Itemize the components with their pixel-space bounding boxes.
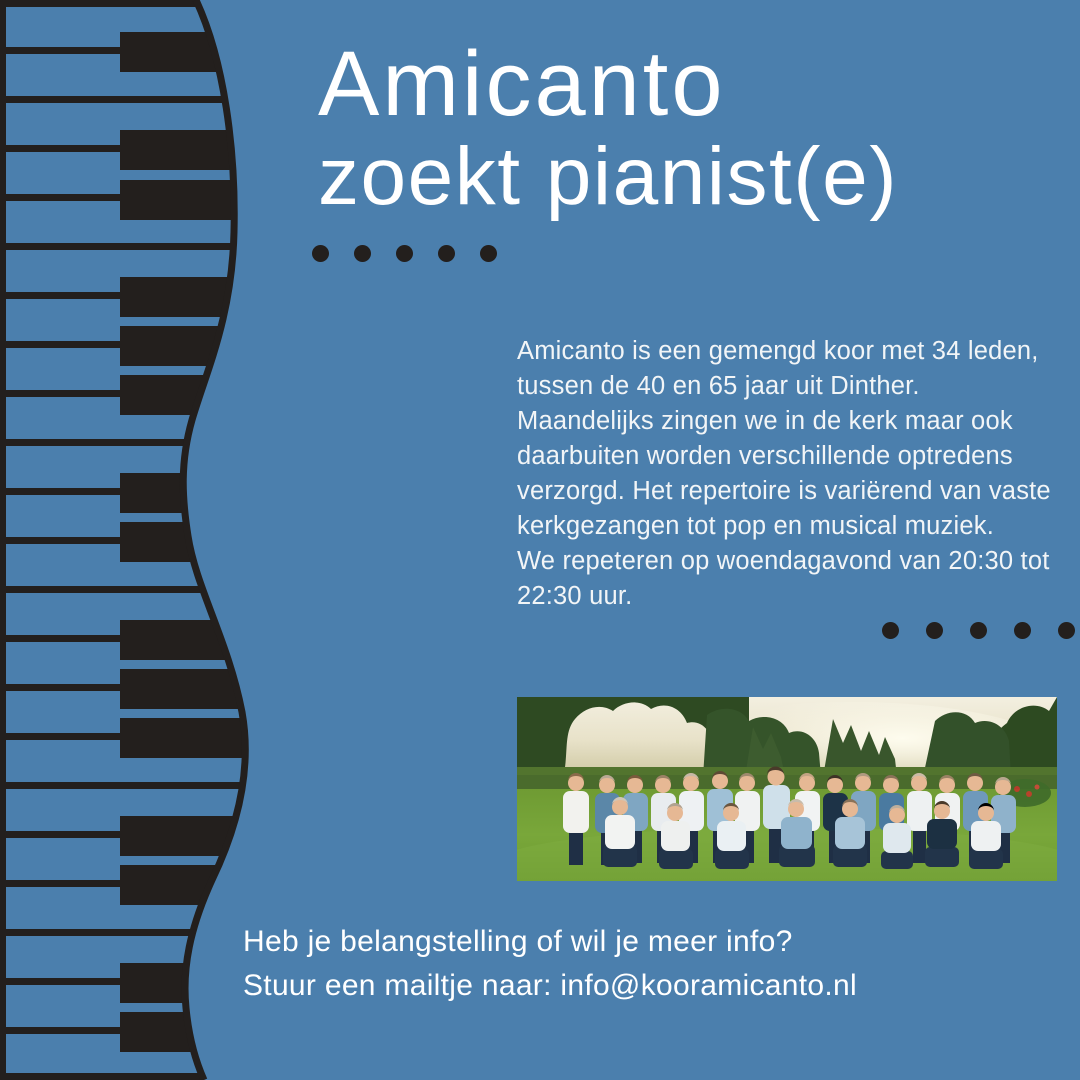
dot: [1058, 622, 1075, 639]
headline-block: Amicanto zoekt pianist(e): [318, 38, 1060, 220]
dot-row-title: [312, 245, 497, 262]
dot: [926, 622, 943, 639]
keyboard-keys-group: [0, 0, 290, 1080]
poster: Amicanto zoekt pianist(e) Amicanto is ee…: [0, 0, 1080, 1080]
contact-block: Heb je belangstelling of wil je meer inf…: [243, 920, 857, 1008]
body-copy-block: Amicanto is een gemengd koor met 34 lede…: [517, 334, 1062, 614]
dot: [354, 245, 371, 262]
dot: [396, 245, 413, 262]
poster-title: Amicanto: [318, 38, 1060, 132]
dot: [438, 245, 455, 262]
contact-question: Heb je belangstelling of wil je meer inf…: [243, 920, 857, 964]
keyboard-left-border: [0, 0, 6, 1080]
piano-keyboard-graphic: [0, 0, 290, 1080]
contact-email-line[interactable]: Stuur een mailtje naar: info@kooramicant…: [243, 964, 857, 1008]
dot: [970, 622, 987, 639]
body-paragraph-rehearsal: We repeteren op woendagavond van 20:30 t…: [517, 544, 1062, 614]
dot: [882, 622, 899, 639]
body-paragraph-about: Amicanto is een gemengd koor met 34 lede…: [517, 334, 1062, 544]
dot-row-mid: [882, 622, 1075, 639]
dot: [312, 245, 329, 262]
choir-group-photo: [517, 697, 1057, 881]
dot: [1014, 622, 1031, 639]
dot: [480, 245, 497, 262]
poster-subtitle: zoekt pianist(e): [318, 134, 1060, 220]
